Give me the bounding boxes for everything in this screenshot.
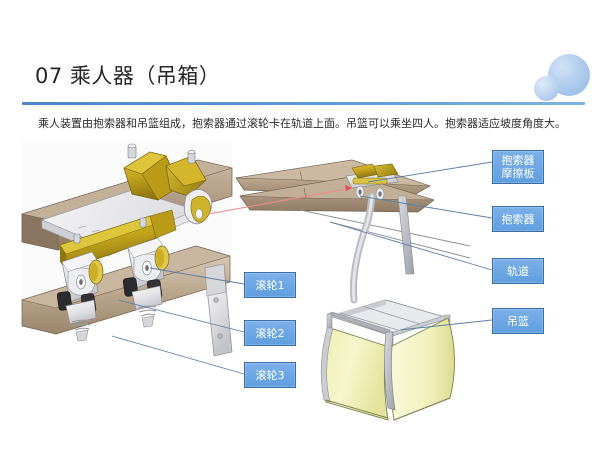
callout-label: 抱索器 摩擦板 — [502, 154, 535, 180]
callout-label: 滚轮3 — [256, 369, 285, 382]
callout-roller-2[interactable]: 滚轮2 — [244, 320, 296, 346]
slide-canvas: 07 乘人器（吊箱） 乘人装置由抱索器和吊篮组成，抱索器通过滚轮卡在轨道上面。吊… — [0, 0, 600, 450]
callout-label: 滚轮2 — [256, 327, 285, 340]
callout-label: 滚轮1 — [256, 279, 285, 292]
callout-roller-1[interactable]: 滚轮1 — [244, 272, 296, 298]
callout-label: 吊篮 — [507, 315, 529, 328]
callout-grip[interactable]: 抱索器 — [492, 206, 544, 232]
callout-label: 抱索器 — [502, 213, 535, 226]
callout-track[interactable]: 轨道 — [492, 258, 544, 284]
callout-roller-3[interactable]: 滚轮3 — [244, 362, 296, 388]
callout-grip-friction-plate[interactable]: 抱索器 摩擦板 — [492, 150, 544, 184]
callout-label: 轨道 — [507, 265, 529, 278]
callout-cabin[interactable]: 吊篮 — [492, 308, 544, 334]
